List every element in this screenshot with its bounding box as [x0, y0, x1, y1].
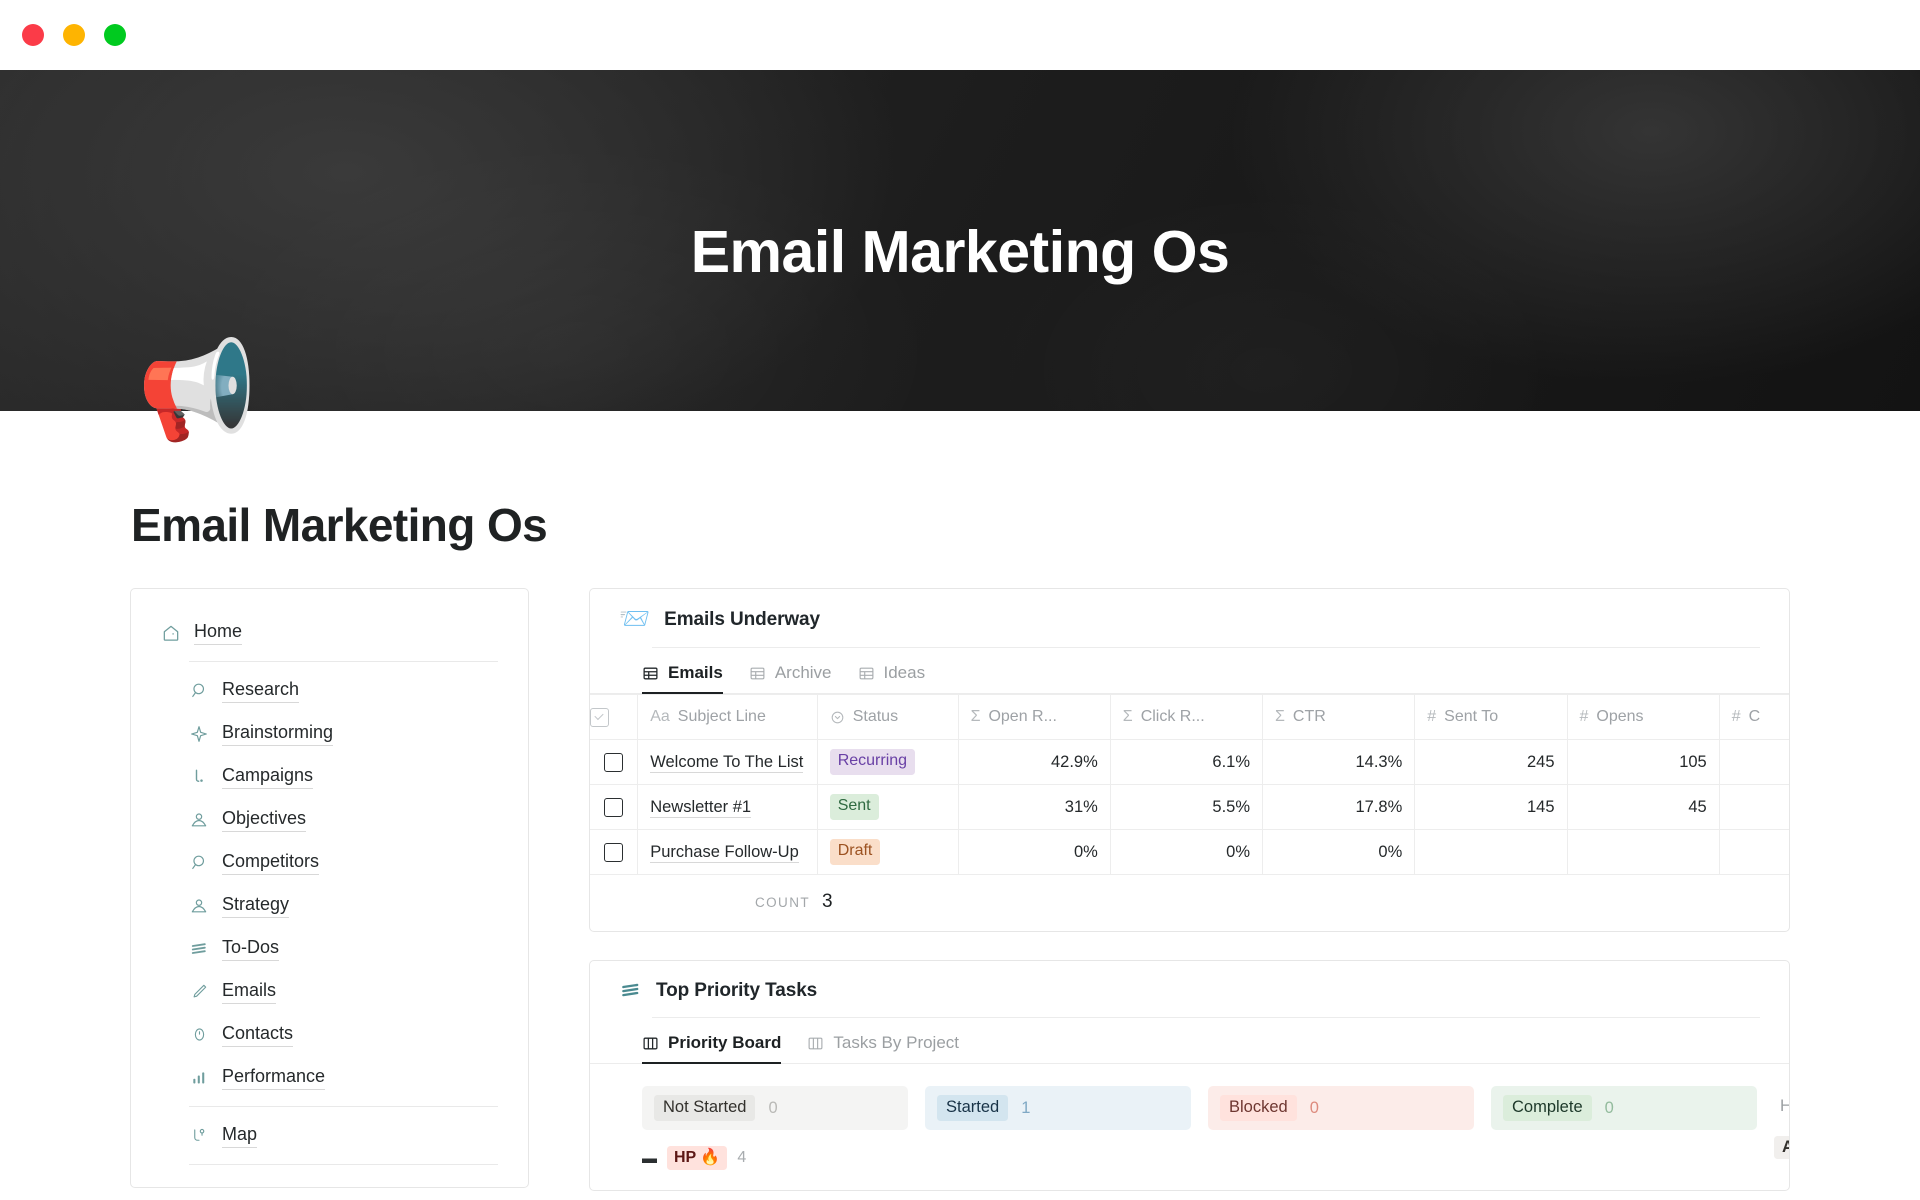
page-title: Email Marketing Os [131, 498, 547, 552]
column-label: C [1749, 708, 1761, 726]
window-traffic-lights [22, 24, 126, 46]
tasks-view-tabs: Priority Board Tasks By Project [590, 1018, 1789, 1064]
column-label: Click R... [1141, 708, 1205, 726]
table-icon [749, 665, 766, 682]
kanban-column-body: ▬ HP 🔥 4 [642, 1130, 908, 1190]
tab-emails[interactable]: Emails [642, 663, 723, 694]
emails-underway-card: 📨 Emails Underway Emails Archive [589, 588, 1790, 932]
column-header-status[interactable]: Status [817, 695, 958, 740]
row-select-cell[interactable] [590, 830, 638, 875]
table-row[interactable]: Welcome To The List Recurring 42.9% 6.1%… [590, 740, 1789, 785]
kanban-card-partial[interactable]: ▬ HP 🔥 4 [642, 1146, 908, 1170]
kanban-count: 1 [1021, 1099, 1030, 1118]
sidebar-item-label: Contacts [222, 1022, 293, 1047]
emails-view-tabs: Emails Archive Ideas [590, 648, 1789, 694]
sidebar-item-label: Strategy [222, 893, 289, 918]
kanban-column-body [925, 1130, 1191, 1190]
number-type-icon: # [1427, 708, 1436, 726]
column-header-ctr[interactable]: ΣCTR [1263, 695, 1415, 740]
subject-link[interactable]: Purchase Follow-Up [650, 843, 799, 863]
sidebar-item-label: Map [222, 1123, 257, 1148]
kanban-column-header: Blocked 0 [1208, 1086, 1474, 1130]
column-header-opens[interactable]: #Opens [1567, 695, 1719, 740]
subject-link[interactable]: Welcome To The List [650, 753, 803, 773]
priority-board: Not Started 0 ▬ HP 🔥 4 Started 1 [590, 1064, 1789, 1190]
bar-chart-icon [189, 1068, 209, 1088]
kanban-status-badge: Blocked [1220, 1095, 1297, 1121]
cell-sent-to[interactable]: 245 [1415, 740, 1567, 785]
minimize-button[interactable] [63, 24, 85, 46]
tab-label: Ideas [884, 663, 926, 683]
pencil-icon [189, 982, 209, 1002]
cell-open-rate[interactable]: 31% [958, 785, 1110, 830]
tasks-card-header: Top Priority Tasks [590, 961, 1789, 1002]
priority-badge: HP 🔥 [667, 1146, 727, 1170]
count-label: COUNT [755, 895, 810, 910]
cell-click-rate[interactable]: 0% [1110, 830, 1262, 875]
select-icon [830, 710, 845, 725]
kanban-column-blocked[interactable]: Blocked 0 [1208, 1086, 1474, 1190]
tab-label: Archive [775, 663, 832, 683]
kanban-column-complete[interactable]: Complete 0 [1491, 1086, 1757, 1190]
column-label: Sent To [1444, 708, 1498, 726]
magnifier-icon [189, 681, 209, 701]
kanban-card-count: 4 [737, 1149, 746, 1167]
sidebar-item-emails[interactable]: Emails [161, 970, 498, 1013]
status-badge: Sent [830, 794, 879, 819]
status-badge: Recurring [830, 749, 915, 774]
kanban-column-body [1491, 1130, 1757, 1190]
board-icon [807, 1035, 824, 1052]
cell-opens[interactable] [1567, 830, 1719, 875]
kanban-status-badge: Started [937, 1095, 1008, 1121]
stack-icon [619, 979, 642, 1002]
kanban-hidden-body: Ar [1774, 1116, 1790, 1176]
column-label: CTR [1293, 708, 1326, 726]
table-icon [642, 665, 659, 682]
cell-status[interactable]: Draft [817, 830, 958, 875]
sidebar-item-label: Research [222, 678, 299, 703]
sidebar-item-contacts[interactable]: Contacts [161, 1013, 498, 1056]
column-header-open-rate[interactable]: ΣOpen R... [958, 695, 1110, 740]
tab-priority-board[interactable]: Priority Board [642, 1033, 781, 1064]
row-select-cell[interactable] [590, 785, 638, 830]
sidebar-item-objectives[interactable]: Objectives [161, 798, 498, 841]
cell-ctr[interactable]: 17.8% [1263, 785, 1415, 830]
row-checkbox[interactable] [604, 843, 623, 862]
cell-sent-to[interactable]: 145 [1415, 785, 1567, 830]
number-type-icon: # [1732, 708, 1741, 726]
table-header-row: AaSubject Line Status [590, 695, 1789, 740]
select-all-header[interactable] [590, 695, 638, 740]
sidebar-item-map[interactable]: Map [161, 1114, 498, 1157]
magnifier-icon [189, 853, 209, 873]
home-icon [161, 623, 181, 643]
kanban-column-header: Complete 0 [1491, 1086, 1757, 1130]
column-label: Opens [1596, 708, 1643, 726]
tab-archive[interactable]: Archive [749, 663, 832, 694]
select-all-checkbox[interactable] [590, 708, 609, 727]
cell-opens[interactable]: 45 [1567, 785, 1719, 830]
row-select-cell[interactable] [590, 740, 638, 785]
sidebar-item-label: Home [194, 620, 242, 645]
row-checkbox[interactable] [604, 798, 623, 817]
kanban-column-started[interactable]: Started 1 [925, 1086, 1191, 1190]
archive-badge: Ar [1774, 1136, 1790, 1159]
kanban-hidden-group[interactable]: Hic Ar [1774, 1086, 1790, 1190]
row-checkbox[interactable] [604, 753, 623, 772]
cell-subject[interactable]: Newsletter #1 [638, 785, 818, 830]
main-column: 📨 Emails Underway Emails Archive [589, 588, 1790, 1191]
kanban-column-header: Started 1 [925, 1086, 1191, 1130]
sidebar-item-label: Competitors [222, 850, 319, 875]
table-row[interactable]: Newsletter #1 Sent 31% 5.5% 17.8% 145 45 [590, 785, 1789, 830]
megaphone-line-icon [189, 767, 209, 787]
cell-ctr[interactable]: 0% [1263, 830, 1415, 875]
number-type-icon: # [1580, 708, 1589, 726]
sidebar-item-strategy[interactable]: Strategy [161, 884, 498, 927]
tab-label: Tasks By Project [833, 1033, 959, 1053]
table-row[interactable]: Purchase Follow-Up Draft 0% 0% 0% [590, 830, 1789, 875]
cell-click-rate[interactable]: 6.1% [1110, 740, 1262, 785]
column-header-subject[interactable]: AaSubject Line [638, 695, 818, 740]
cell-status[interactable]: Recurring [817, 740, 958, 785]
emails-count-row: COUNT 3 [590, 875, 1789, 931]
cell-ctr[interactable]: 14.3% [1263, 740, 1415, 785]
cell-open-rate[interactable]: 0% [958, 830, 1110, 875]
sidebar-nav-card: Home Research Brainstorming Campaigns [130, 588, 529, 1188]
cover-banner: Email Marketing Os [0, 70, 1920, 411]
board-icon [642, 1035, 659, 1052]
sidebar-item-label: Performance [222, 1065, 325, 1090]
cell-open-rate[interactable]: 42.9% [958, 740, 1110, 785]
text-type-icon: Aa [650, 708, 670, 726]
column-label: Open R... [988, 708, 1056, 726]
kanban-column-header: Not Started 0 [642, 1086, 908, 1130]
sidebar-item-label: Campaigns [222, 764, 313, 789]
column-header-click-rate[interactable]: ΣClick R... [1110, 695, 1262, 740]
sidebar-item-label: Objectives [222, 807, 306, 832]
cell-clicks[interactable] [1719, 785, 1789, 830]
table-icon [858, 665, 875, 682]
kanban-status-badge: Not Started [654, 1095, 755, 1121]
cell-clicks[interactable] [1719, 740, 1789, 785]
tab-label: Emails [668, 663, 723, 683]
close-button[interactable] [22, 24, 44, 46]
formula-type-icon: Σ [971, 708, 981, 726]
window-titlebar [0, 0, 1920, 70]
count-value: 3 [822, 891, 833, 913]
kanban-count: 0 [1310, 1099, 1319, 1118]
sidebar-item-research[interactable]: Research [161, 669, 498, 712]
formula-type-icon: Σ [1275, 708, 1285, 726]
kanban-hidden-label: Hic [1774, 1086, 1790, 1116]
column-label: Subject Line [678, 708, 766, 726]
kanban-count: 0 [768, 1099, 777, 1118]
cell-click-rate[interactable]: 5.5% [1110, 785, 1262, 830]
sidebar-divider-mid [189, 1106, 498, 1107]
drag-handle-icon[interactable]: ▬ [642, 1150, 657, 1167]
emails-card-header: 📨 Emails Underway [590, 589, 1789, 632]
sidebar-item-home[interactable]: Home [161, 611, 498, 654]
banner-title: Email Marketing Os [0, 218, 1920, 286]
sidebar-item-competitors[interactable]: Competitors [161, 841, 498, 884]
cell-status[interactable]: Sent [817, 785, 958, 830]
incoming-envelope-icon: 📨 [619, 607, 650, 632]
column-header-clicks[interactable]: #C [1719, 695, 1789, 740]
cell-opens[interactable]: 105 [1567, 740, 1719, 785]
page-icon-megaphone[interactable]: 📢 [137, 343, 257, 439]
stack-icon [189, 939, 209, 959]
sidebar-item-performance[interactable]: Performance [161, 1056, 498, 1099]
tasks-card-title: Top Priority Tasks [656, 980, 817, 1002]
sidebar-item-campaigns[interactable]: Campaigns [161, 755, 498, 798]
emails-table: AaSubject Line Status [590, 694, 1789, 875]
cell-subject[interactable]: Welcome To The List [638, 740, 818, 785]
contact-icon [189, 1025, 209, 1045]
tab-ideas[interactable]: Ideas [858, 663, 926, 694]
formula-type-icon: Σ [1123, 708, 1133, 726]
sidebar-divider-top [189, 661, 498, 662]
status-badge: Draft [830, 839, 881, 864]
kanban-column-not-started[interactable]: Not Started 0 ▬ HP 🔥 4 [642, 1086, 908, 1190]
kanban-count: 0 [1605, 1099, 1614, 1118]
sidebar-item-brainstorming[interactable]: Brainstorming [161, 712, 498, 755]
emails-table-wrap: AaSubject Line Status [590, 694, 1789, 875]
kanban-status-badge: Complete [1503, 1095, 1592, 1121]
map-route-icon [189, 1126, 209, 1146]
tab-label: Priority Board [668, 1033, 781, 1053]
cell-subject[interactable]: Purchase Follow-Up [638, 830, 818, 875]
target-person-icon [189, 896, 209, 916]
maximize-button[interactable] [104, 24, 126, 46]
column-label: Status [853, 708, 898, 726]
cell-sent-to[interactable] [1415, 830, 1567, 875]
sidebar-divider-bottom [189, 1164, 498, 1165]
kanban-column-body [1208, 1130, 1474, 1190]
subject-link[interactable]: Newsletter #1 [650, 798, 751, 818]
top-priority-tasks-card: Top Priority Tasks Priority Board Tasks … [589, 960, 1790, 1191]
sparkle-icon [189, 724, 209, 744]
tab-tasks-by-project[interactable]: Tasks By Project [807, 1033, 959, 1064]
target-person-icon [189, 810, 209, 830]
fire-icon: 🔥 [700, 1149, 720, 1166]
sidebar-item-label: To-Dos [222, 936, 279, 961]
column-header-sent-to[interactable]: #Sent To [1415, 695, 1567, 740]
cell-clicks[interactable] [1719, 830, 1789, 875]
sidebar-item-label: Brainstorming [222, 721, 333, 746]
emails-card-title: Emails Underway [664, 609, 820, 631]
sidebar-item-label: Emails [222, 979, 276, 1004]
sidebar-item-to-dos[interactable]: To-Dos [161, 927, 498, 970]
